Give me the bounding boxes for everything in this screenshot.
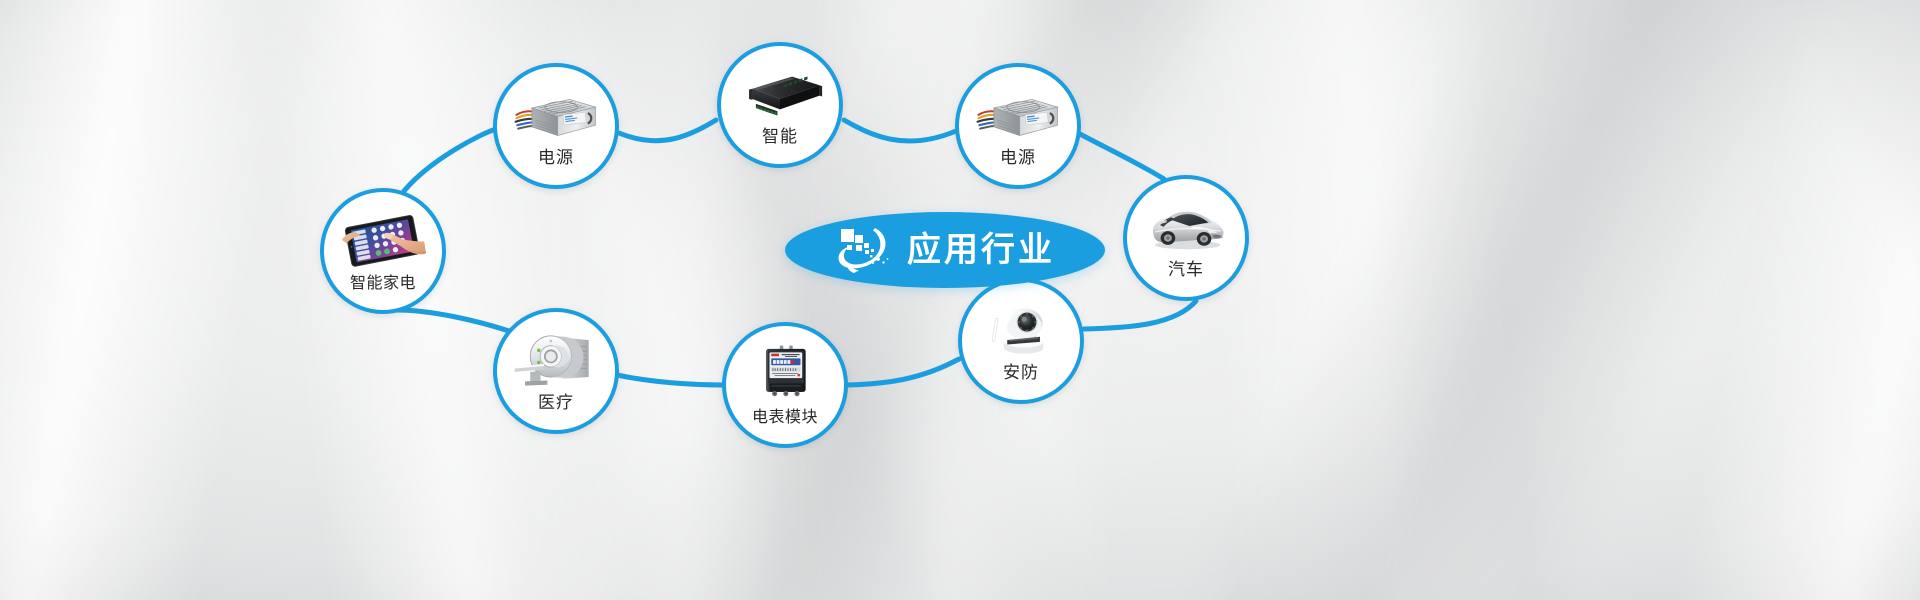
node-security[interactable]: 安防 (958, 278, 1084, 404)
node-label: 电源 (538, 149, 574, 168)
ip-camera-icon (978, 296, 1064, 362)
link-automotive-security (1084, 301, 1196, 329)
mri-ct-scanner-icon (513, 326, 599, 392)
badge-title: 应用行业 (907, 233, 1055, 267)
link-powerright-automotive (1078, 133, 1164, 179)
node-label: 汽车 (1168, 261, 1204, 280)
center-badge[interactable]: 应用行业 (785, 212, 1105, 288)
link-smartappliance-powerleft (404, 129, 496, 191)
node-intelligent[interactable]: 智能 (717, 42, 843, 168)
link-intelligent-powerright (844, 120, 956, 141)
node-smart-appliance[interactable]: 智能家电 (320, 188, 446, 314)
node-label: 智能家电 (350, 274, 416, 292)
electric-meter-icon (742, 340, 828, 406)
node-label: 安防 (1003, 364, 1039, 383)
pc-power-supply-icon (975, 81, 1061, 147)
node-automotive[interactable]: 汽车 (1123, 175, 1249, 301)
node-label: 电表模块 (752, 408, 818, 426)
link-meter-medical (617, 375, 722, 385)
node-meter-module[interactable]: 电表模块 (722, 322, 848, 448)
link-powerleft-intelligent (619, 120, 716, 141)
node-power-left[interactable]: 电源 (493, 63, 619, 189)
node-power-right[interactable]: 电源 (955, 63, 1081, 189)
link-medical-smartappliance (397, 310, 509, 331)
node-medical[interactable]: 医疗 (493, 308, 619, 434)
node-label: 医疗 (538, 394, 574, 413)
application-industries-diagram: 电源 (0, 0, 1920, 600)
tablet-touch-hand-icon (340, 206, 426, 272)
banner-stage: 电源 (0, 0, 1920, 600)
pixel-orbit-logo-icon (835, 224, 893, 276)
node-connector-ring (0, 0, 1920, 600)
rack-server-icon (737, 60, 823, 126)
link-security-meter (848, 359, 959, 385)
pc-power-supply-icon (513, 81, 599, 147)
node-label: 智能 (762, 128, 798, 147)
sports-car-icon (1143, 193, 1229, 259)
node-label: 电源 (1000, 149, 1036, 168)
